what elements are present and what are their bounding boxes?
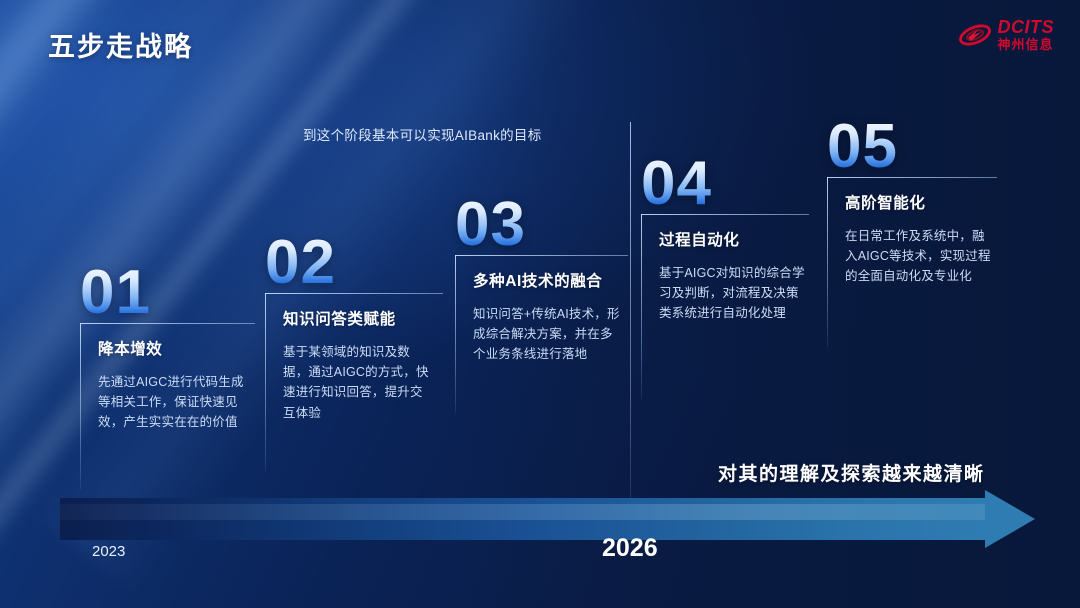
card-top-rule	[265, 293, 443, 294]
slide-canvas: 五步走战略 DCITS 神州信息 到这个阶段基本可以实现AIBank的目标 01…	[0, 0, 1080, 608]
annotation-text: 到这个阶段基本可以实现AIBank的目标	[303, 124, 542, 144]
logo-cn-text: 神州信息	[998, 38, 1055, 51]
step-number: 03	[455, 196, 628, 255]
logo-en-text: DCITS	[998, 18, 1055, 36]
step-item-02[interactable]: 02 知识问答类赋能 基于某领域的知识及数据，通过AIGC的方式，快速进行知识回…	[265, 234, 443, 423]
step-card: 高阶智能化 在日常工作及系统中，融入AIGC等技术，实现过程的全面自动化及专业化	[827, 177, 997, 287]
step-card: 降本增效 先通过AIGC进行代码生成等相关工作，保证快速见效，产生实实在在的价值	[80, 323, 255, 433]
card-left-rule	[455, 255, 456, 413]
dcits-swirl-logo-icon	[958, 20, 992, 50]
step-body: 先通过AIGC进行代码生成等相关工作，保证快速见效，产生实实在在的价值	[98, 372, 246, 433]
card-top-rule	[641, 214, 809, 215]
card-left-rule	[641, 214, 642, 399]
timeline-arrow	[60, 498, 1035, 540]
card-top-rule	[455, 255, 628, 256]
step-card: 过程自动化 基于AIGC对知识的综合学习及判断，对流程及决策类系统进行自动化处理	[641, 214, 809, 324]
page-title: 五步走战略	[48, 25, 193, 64]
step-card: 多种AI技术的融合 知识问答+传统AI技术，形成综合解决方案，并在多个业务条线进…	[455, 255, 628, 365]
step-body: 基于某领域的知识及数据，通过AIGC的方式，快速进行知识回答，提升交互体验	[283, 342, 435, 423]
step-title: 降本增效	[98, 337, 255, 359]
timeline-note: 对其的理解及探索越来越清晰	[718, 459, 985, 486]
timeline-year-start: 2023	[92, 543, 125, 560]
card-top-rule	[80, 323, 255, 324]
step-body: 知识问答+传统AI技术，形成综合解决方案，并在多个业务条线进行落地	[473, 304, 625, 365]
card-top-rule	[827, 177, 997, 178]
step-item-04[interactable]: 04 过程自动化 基于AIGC对知识的综合学习及判断，对流程及决策类系统进行自动…	[641, 155, 809, 324]
timeline-arrow-head-icon	[985, 490, 1035, 548]
brand-logo: DCITS 神州信息	[958, 18, 1055, 51]
step-title: 知识问答类赋能	[283, 307, 443, 329]
timeline-arrow-bar	[60, 498, 985, 540]
step-item-01[interactable]: 01 降本增效 先通过AIGC进行代码生成等相关工作，保证快速见效，产生实实在在…	[80, 264, 255, 433]
card-left-rule	[827, 177, 828, 347]
card-left-rule	[265, 293, 266, 471]
step-number: 01	[80, 264, 255, 323]
step-number: 04	[641, 155, 809, 214]
timeline-guide-line	[630, 122, 631, 507]
step-title: 高阶智能化	[845, 191, 997, 213]
step-title: 多种AI技术的融合	[473, 269, 628, 291]
step-item-03[interactable]: 03 多种AI技术的融合 知识问答+传统AI技术，形成综合解决方案，并在多个业务…	[455, 196, 628, 365]
step-number: 02	[265, 234, 443, 293]
timeline-year-end: 2026	[602, 534, 658, 563]
step-body: 基于AIGC对知识的综合学习及判断，对流程及决策类系统进行自动化处理	[659, 263, 805, 324]
step-item-05[interactable]: 05 高阶智能化 在日常工作及系统中，融入AIGC等技术，实现过程的全面自动化及…	[827, 118, 997, 287]
step-card: 知识问答类赋能 基于某领域的知识及数据，通过AIGC的方式，快速进行知识回答，提…	[265, 293, 443, 423]
step-number: 05	[827, 118, 997, 177]
step-title: 过程自动化	[659, 228, 809, 250]
card-left-rule	[80, 323, 81, 489]
logo-wordmark: DCITS 神州信息	[998, 18, 1055, 51]
step-body: 在日常工作及系统中，融入AIGC等技术，实现过程的全面自动化及专业化	[845, 226, 995, 287]
